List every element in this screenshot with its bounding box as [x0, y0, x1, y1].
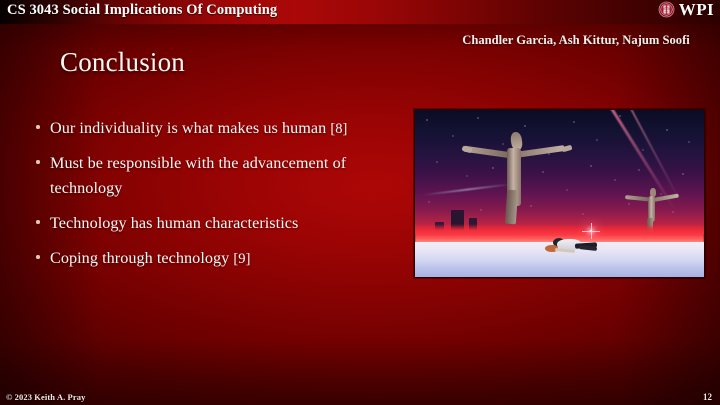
figure-arm-right [515, 145, 565, 158]
slide-footer: © 2023 Keith A. Pray 12 [0, 387, 720, 405]
course-title: CS 3043 Social Implications Of Computing [7, 2, 277, 19]
wpi-wordmark: WPI [679, 1, 714, 18]
figure-arm-left [625, 196, 649, 202]
bullet-marker-icon [36, 116, 50, 129]
bullet-text: Coping through technology [9] [50, 246, 250, 272]
bullet-text: Technology has human characteristics [50, 211, 298, 237]
bullet-text: Our individuality is what makes us human… [50, 116, 347, 142]
light-spark-icon [590, 230, 592, 232]
slide-image-frame [414, 109, 705, 278]
wpi-seal-icon [658, 1, 675, 18]
bullet-marker-icon [36, 211, 50, 224]
bullet-marker-icon [36, 151, 50, 164]
lying-person-figure [543, 238, 601, 254]
figure-hand-right [562, 145, 573, 153]
bullet-list: Our individuality is what makes us human… [36, 116, 412, 281]
figure-arm-right [653, 194, 679, 202]
citation-ref: [8] [330, 121, 347, 137]
list-item: Coping through technology [9] [36, 246, 412, 272]
slide-image [415, 110, 704, 277]
slide-title: Conclusion [60, 47, 185, 78]
citation-ref: [9] [233, 251, 250, 267]
figure-legs-secondary [579, 245, 597, 251]
list-item: Must be responsible with the advancement… [36, 151, 412, 202]
slide-header-bar: CS 3043 Social Implications Of Computing… [0, 0, 720, 24]
list-item: Our individuality is what makes us human… [36, 116, 412, 142]
bullet-text: Must be responsible with the advancement… [50, 151, 412, 202]
crucified-mecha-figure-large [463, 128, 571, 224]
presentation-slide: CS 3043 Social Implications Of Computing… [0, 0, 720, 405]
authors-line: Chandler Garcia, Ash Kittur, Najum Soofi [440, 33, 712, 48]
bullet-marker-icon [36, 246, 50, 259]
list-item: Technology has human characteristics [36, 211, 412, 237]
page-number: 12 [703, 392, 712, 402]
copyright-text: © 2023 Keith A. Pray [6, 392, 85, 402]
wpi-logo: WPI [658, 1, 714, 18]
figure-lower-body [505, 190, 518, 225]
